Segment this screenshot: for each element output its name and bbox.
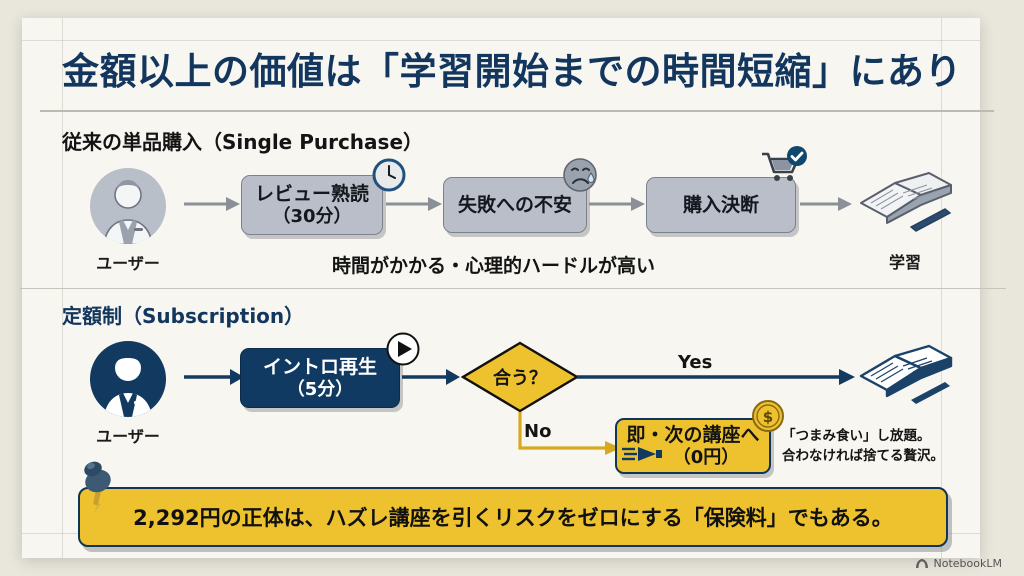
clock-icon (371, 157, 407, 193)
side-note: 「つまみ食い」し放題。 合わなければ捨てる贅沢。 (782, 427, 944, 466)
step-box-intro-play-line1: イントロ再生 (263, 356, 377, 378)
step-box-purchase-decision-line1: 購入決断 (683, 194, 759, 216)
title-underline (40, 110, 994, 112)
arrow-step3-to-learning (800, 193, 852, 215)
worried-face-icon (561, 156, 599, 194)
caption-user-single: ユーザー (70, 250, 186, 274)
section-label-single-purchase: 従来の単品購入（Single Purchase） (62, 126, 423, 155)
watermark: NotebookLM (915, 557, 1002, 570)
bottom-banner-text: 2,292円の正体は、ハズレ講座を引くリスクをゼロにする「保険料」でもある。 (133, 502, 893, 532)
watermark-label: NotebookLM (934, 557, 1002, 570)
side-note-line1: 「つまみ食い」し放題。 (782, 427, 944, 447)
decision-diamond[interactable]: 合う？ (461, 341, 579, 413)
notebooklm-logo-icon (915, 558, 929, 569)
step-box-anxiety-line1: 失敗への不安 (458, 194, 572, 216)
arrow-no-branch (505, 410, 625, 462)
edge-label-yes: Yes (678, 352, 712, 373)
open-book-icon (851, 165, 959, 243)
bottom-banner[interactable]: 2,292円の正体は、ハズレ講座を引くリスクをゼロにする「保険料」でもある。 (78, 487, 948, 547)
arrow-user-to-step1 (184, 193, 240, 215)
cart-check-icon (758, 146, 808, 188)
slide-stage: 金額以上の価値は「学習開始までの時間短縮」にあり 従来の単品購入（Single … (0, 0, 1024, 576)
step-box-review[interactable]: レビュー熟読 （30分） (241, 175, 383, 235)
coin-dollar-icon: $ (751, 399, 785, 433)
caption-learning-single: 学習 (851, 249, 959, 273)
section-label-subscription: 定額制（Subscription） (62, 300, 304, 329)
user-avatar-icon (90, 341, 166, 417)
step-box-review-line1: レビュー熟読 (255, 183, 369, 205)
section-divider (20, 288, 1006, 289)
fast-forward-icon (622, 443, 670, 465)
arrow-step2-to-step3 (589, 193, 645, 215)
arrow-yes-branch (577, 366, 855, 388)
caption-user-subscription: ユーザー (70, 423, 186, 447)
step-box-intro-play[interactable]: イントロ再生 （5分） (240, 348, 400, 408)
guide-line-top (22, 40, 980, 41)
step-box-review-line2: （30分） (272, 206, 351, 227)
decision-diamond-label: 合う？ (461, 341, 579, 413)
page-title: 金額以上の価値は「学習開始までの時間短縮」にあり (62, 48, 984, 96)
svg-text:$: $ (763, 408, 773, 426)
section-caption-single-purchase: 時間がかかる・心理的ハードルが高い (332, 251, 655, 278)
edge-label-no: No (524, 421, 551, 442)
user-avatar-icon (90, 168, 166, 244)
arrow-user-to-intro (184, 366, 244, 388)
side-note-line2: 合わなければ捨てる贅沢。 (782, 447, 944, 467)
step-box-intro-play-line2: （5分） (287, 379, 354, 400)
arrow-intro-to-decision (402, 366, 460, 388)
pushpin-icon (74, 455, 126, 515)
open-book-icon (851, 338, 959, 416)
play-circle-icon (385, 331, 421, 367)
arrow-step1-to-step2 (386, 193, 442, 215)
